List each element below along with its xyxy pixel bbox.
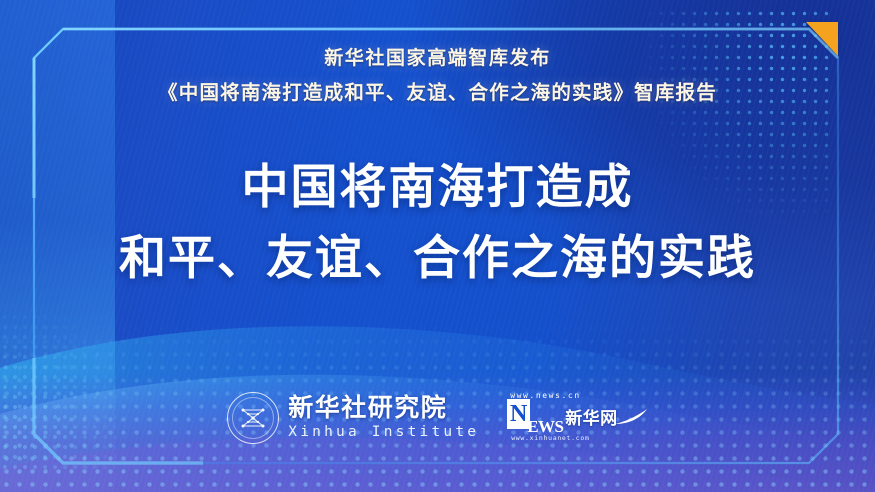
logo-bar: 新华社研究院 Xinhua Institute www.news.cn N EW… [0, 391, 875, 444]
page-title-line-1: 中国将南海打造成 [119, 157, 756, 217]
institute-seal-icon [227, 392, 279, 444]
news-mark-icon: N EWS [507, 401, 563, 431]
xinhua-news-logo: www.news.cn N EWS 新华网 www.xinhuanet.com [507, 391, 648, 442]
institute-wordmark: 新华社研究院 Xinhua Institute [288, 396, 479, 440]
report-title-line: 《中国将南海打造成和平、友谊、合作之海的实践》智库报告 [158, 76, 717, 105]
institute-name-en: Xinhua Institute [288, 425, 479, 440]
news-mark-rest: EWS [527, 417, 563, 437]
institute-name-cn: 新华社研究院 [288, 396, 479, 421]
poster-canvas: 新华社国家高端智库发布 《中国将南海打造成和平、友谊、合作之海的实践》智库报告 … [0, 0, 875, 492]
page-title-line-2: 和平、友谊、合作之海的实践 [119, 228, 756, 288]
news-swoosh-icon [614, 408, 648, 431]
news-name-cn: 新华网 [565, 404, 618, 429]
xinhua-institute-logo: 新华社研究院 Xinhua Institute [227, 392, 479, 444]
news-mark-row: N EWS 新华网 [507, 401, 648, 431]
publisher-line: 新华社国家高端智库发布 [324, 44, 551, 73]
page-title: 中国将南海打造成 和平、友谊、合作之海的实践 [119, 157, 756, 287]
